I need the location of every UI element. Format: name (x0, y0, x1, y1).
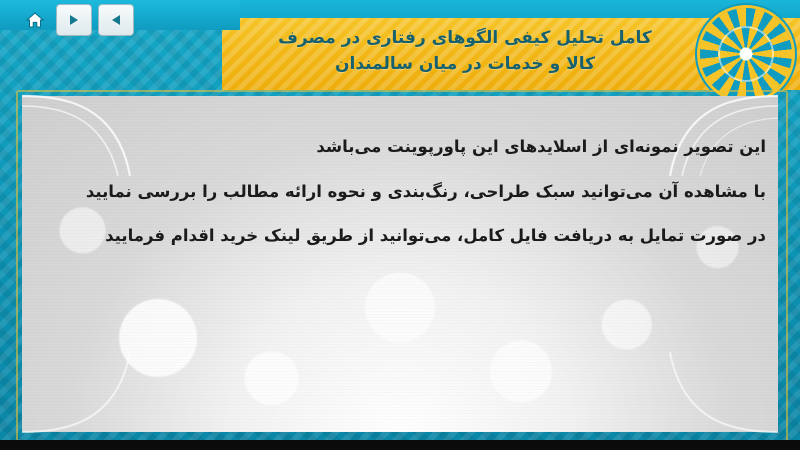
viewer-bottom-bar (0, 440, 800, 450)
body-line-1: این تصویر نمونه‌ای از اسلایدهای این پاور… (66, 130, 766, 165)
corner-ornament-bottom-right-icon (660, 348, 780, 434)
body-line-2: با مشاهده آن می‌توانید سبک طراحی، رنگ‌بن… (66, 175, 766, 210)
home-icon (25, 10, 45, 30)
slide-canvas: کامل تحلیل کیفی الگوهای رفتاری در مصرف ک… (0, 0, 800, 450)
next-slide-button[interactable] (56, 4, 92, 36)
triangle-left-icon (109, 13, 123, 27)
slide-title: کامل تحلیل کیفی الگوهای رفتاری در مصرف ک… (230, 14, 700, 88)
slide-viewer: کامل تحلیل کیفی الگوهای رفتاری در مصرف ک… (0, 0, 800, 450)
slide-title-line-1: کامل تحلیل کیفی الگوهای رفتاری در مصرف (278, 25, 652, 51)
previous-slide-button[interactable] (98, 4, 134, 36)
slide-navigation (20, 4, 134, 36)
home-button[interactable] (20, 5, 50, 35)
triangle-right-icon (67, 13, 81, 27)
corner-ornament-bottom-left-icon (20, 348, 140, 434)
ornament-medallion-icon (700, 8, 792, 100)
slide-title-line-2: کالا و خدمات در میان سالمندان (335, 51, 595, 77)
body-line-3: در صورت تمایل به دریافت فایل کامل، می‌تو… (66, 219, 766, 254)
slide-body-text: این تصویر نمونه‌ای از اسلایدهای این پاور… (66, 130, 766, 264)
